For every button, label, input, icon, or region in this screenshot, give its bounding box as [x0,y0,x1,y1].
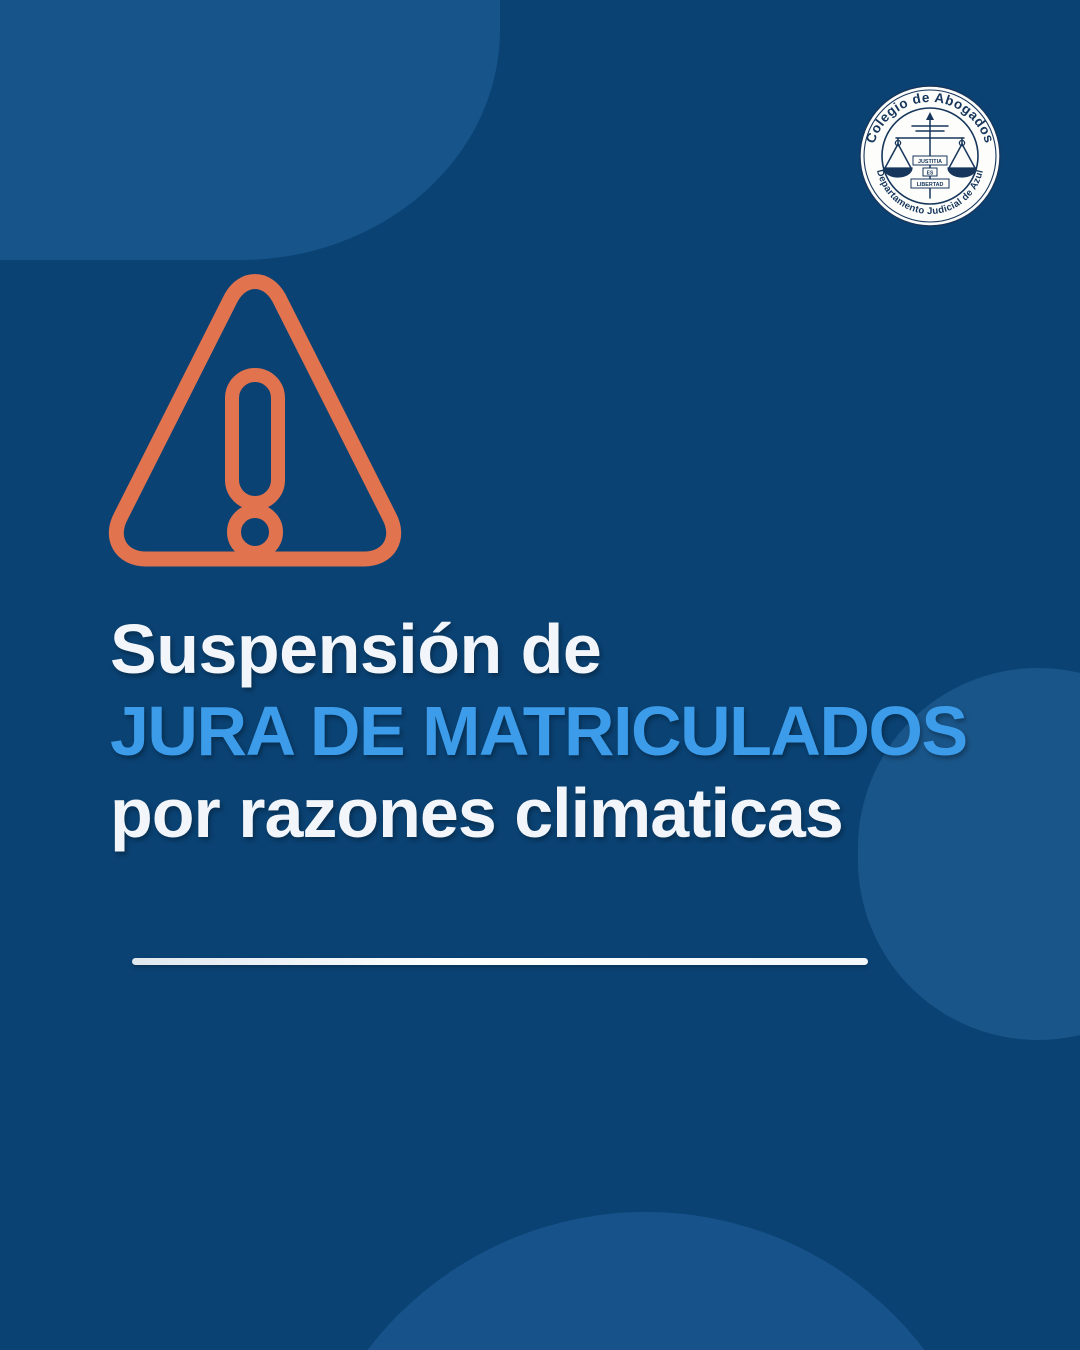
decorative-shape-bottom-circle [296,1212,996,1350]
poster-canvas: Colegio de Abogados Departamento Judicia… [0,0,1080,1350]
decorative-shape-top-left [0,0,500,260]
colegio-de-abogados-seal: Colegio de Abogados Departamento Judicia… [852,82,1008,230]
warning-triangle-icon [100,268,410,573]
headline-line-1: Suspensión de [110,612,1010,686]
headline-line-2: JURA DE MATRICULADOS [110,694,1010,768]
headline-line-3: por razones climaticas [110,776,1010,850]
seal-banner-libertad: LIBERTAD [917,182,944,188]
seal-banner-justitia: JUSTITIA [918,159,942,165]
headline-block: Suspensión de JURA DE MATRICULADOS por r… [110,612,1010,851]
headline-divider [132,958,868,965]
seal-banner-es: ES [927,171,934,177]
